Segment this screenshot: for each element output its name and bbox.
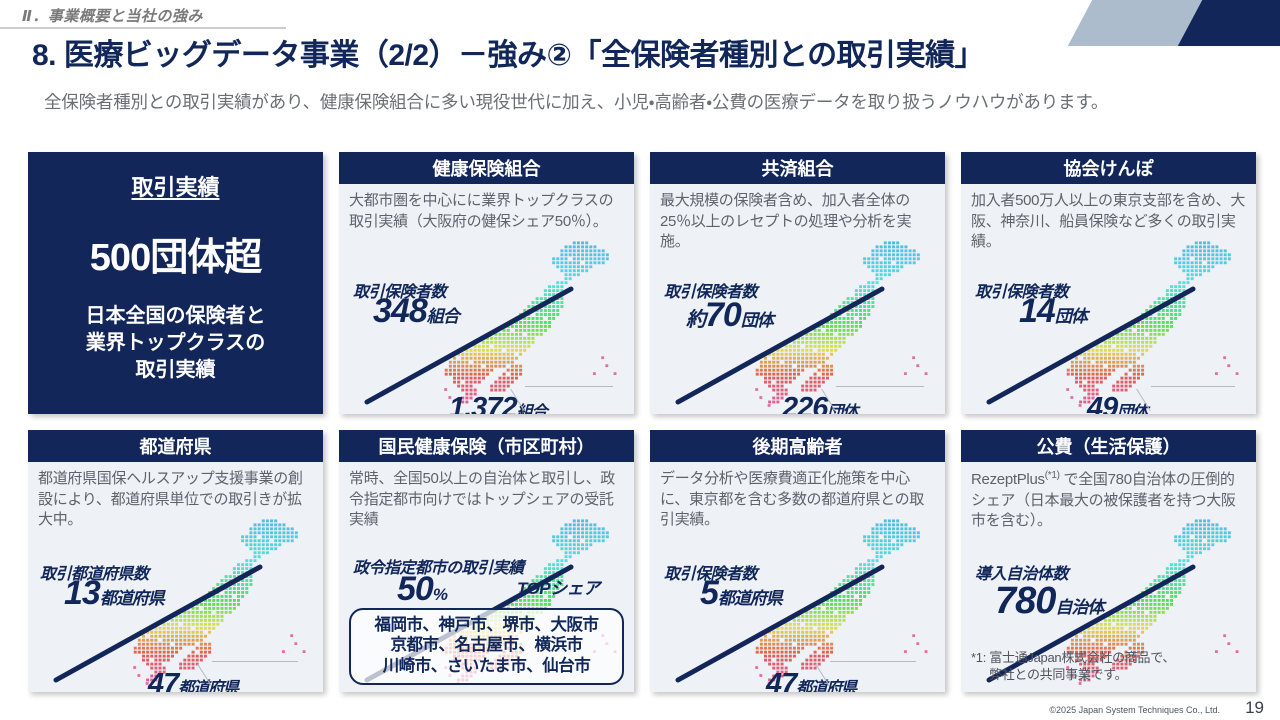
slide-root: Ⅱ．事業概要と当社の強み 8. 医療ビッグデータ事業（2/2）－強み②「全保険者… bbox=[0, 0, 1280, 720]
card-todofuken: 都道府県 都道府県国保ヘルスアップ支援事業の創設により、都道府県単位での取引きが… bbox=[28, 430, 323, 692]
card-body: 常時、全国50以上の自治体と取引し、政令指定都市向けではトップシェアの受託実績 … bbox=[339, 462, 634, 692]
hero-headline-number: 500団体超 bbox=[90, 226, 261, 281]
card-body: 加入者500万人以上の東京支部を含め、大阪、神奈川、船員保険など多くの取引実績。… bbox=[961, 184, 1256, 414]
hero-card-track-record: 取引実績 500団体超 日本全国の保険者と 業界トップクラスの 取引実績 bbox=[28, 152, 323, 414]
card-kokumin-kenko-hoken: 国民健康保険（市区町村） 常時、全国50以上の自治体と取引し、政令指定都市向けで… bbox=[339, 430, 634, 692]
header-divider bbox=[0, 27, 286, 29]
card-kyosai-kumiai: 共済組合 最大規模の保険者含め、加入者全体の25％以上のレセプトの処理や分析を実… bbox=[650, 152, 945, 414]
card-koki-koreisha: 後期高齢者 データ分析や医療費適正化施策を中心に、東京都を含む多数の都道府県との… bbox=[650, 430, 945, 692]
card-body: 最大規模の保険者含め、加入者全体の25％以上のレセプトの処理や分析を実施。 取引… bbox=[650, 184, 945, 414]
card-title: 国民健康保険（市区町村） bbox=[339, 430, 634, 462]
lead-paragraph: 全保険者種別との取引実績があり、健康保険組合に多い現役世代に加え、小児・高齢者・… bbox=[44, 90, 1250, 115]
card-title: 後期高齢者 bbox=[650, 430, 945, 462]
card-description: データ分析や医療費適正化施策を中心に、東京都を含む多数の都道府県との取引実績。 bbox=[650, 462, 945, 531]
card-description: 常時、全国50以上の自治体と取引し、政令指定都市向けではトップシェアの受託実績 bbox=[339, 462, 634, 531]
hero-subtext: 日本全国の保険者と 業界トップクラスの 取引実績 bbox=[86, 303, 266, 384]
city-line: 川崎市、さいたま市、仙台市 bbox=[355, 656, 618, 677]
card-description: 加入者500万人以上の東京支部を含め、大阪、神奈川、船員保険など多くの取引実績。 bbox=[961, 184, 1256, 253]
card-description: 最大規模の保険者含め、加入者全体の25％以上のレセプトの処理や分析を実施。 bbox=[650, 184, 945, 253]
card-kenko-hoken-kumiai: 健康保険組合 大都市圏を中心にに業界トップクラスの取引実績（大阪府の健保シェア5… bbox=[339, 152, 634, 414]
card-footnote: *1: 富士通Japan株式会社の商品で、 弊社との共同事業です。 bbox=[971, 650, 1248, 684]
footnote-marker: (*1) bbox=[1045, 470, 1060, 481]
card-title: 公費（生活保護） bbox=[961, 430, 1256, 462]
page-number: 19 bbox=[1245, 698, 1264, 718]
city-line: 京都市、名古屋市、横浜市 bbox=[355, 635, 618, 656]
footnote-line-2: 弊社との共同事業です。 bbox=[971, 667, 1248, 684]
card-body: 都道府県国保ヘルスアップ支援事業の創設により、都道府県単位での取引きが拡大中。 … bbox=[28, 462, 323, 692]
page-title: 8. 医療ビッグデータ事業（2/2）－強み②「全保険者種別との取引実績」 bbox=[32, 30, 1240, 74]
footnote-line-1: *1: 富士通Japan株式会社の商品で、 bbox=[971, 650, 1175, 665]
product-name: RezeptPlus bbox=[971, 471, 1045, 488]
card-description: RezeptPlus(*1) で全国780自治体の圧倒的シェア（日本最大の被保護… bbox=[961, 462, 1256, 532]
city-list-box: 福岡市、神戸市、堺市、大阪市 京都市、名古屋市、横浜市 川崎市、さいたま市、仙台… bbox=[349, 608, 624, 685]
section-label: Ⅱ．事業概要と当社の強み bbox=[22, 5, 203, 26]
city-line: 福岡市、神戸市、堺市、大阪市 bbox=[355, 615, 618, 636]
card-kohi-seikatsu-hogo: 公費（生活保護） RezeptPlus(*1) で全国780自治体の圧倒的シェア… bbox=[961, 430, 1256, 692]
card-body: データ分析や医療費適正化施策を中心に、東京都を含む多数の都道府県との取引実績。 … bbox=[650, 462, 945, 692]
card-title: 共済組合 bbox=[650, 152, 945, 184]
card-description: 都道府県国保ヘルスアップ支援事業の創設により、都道府県単位での取引きが拡大中。 bbox=[28, 462, 323, 531]
card-description: 大都市圏を中心にに業界トップクラスの取引実績（大阪府の健保シェア50％）。 bbox=[339, 184, 634, 232]
card-title: 健康保険組合 bbox=[339, 152, 634, 184]
card-body: 大都市圏を中心にに業界トップクラスの取引実績（大阪府の健保シェア50％）。 取引… bbox=[339, 184, 634, 414]
hero-label: 取引実績 bbox=[131, 170, 219, 202]
card-body: RezeptPlus(*1) で全国780自治体の圧倒的シェア（日本最大の被保護… bbox=[961, 462, 1256, 692]
card-kyokai-kenpo: 協会けんぽ 加入者500万人以上の東京支部を含め、大阪、神奈川、船員保険など多く… bbox=[961, 152, 1256, 414]
card-title: 都道府県 bbox=[28, 430, 323, 462]
copyright-text: ©2025 Japan System Techniques Co., Ltd. bbox=[1049, 705, 1220, 715]
card-title: 協会けんぽ bbox=[961, 152, 1256, 184]
card-grid: 取引実績 500団体超 日本全国の保険者と 業界トップクラスの 取引実績 健康保… bbox=[28, 152, 1256, 697]
